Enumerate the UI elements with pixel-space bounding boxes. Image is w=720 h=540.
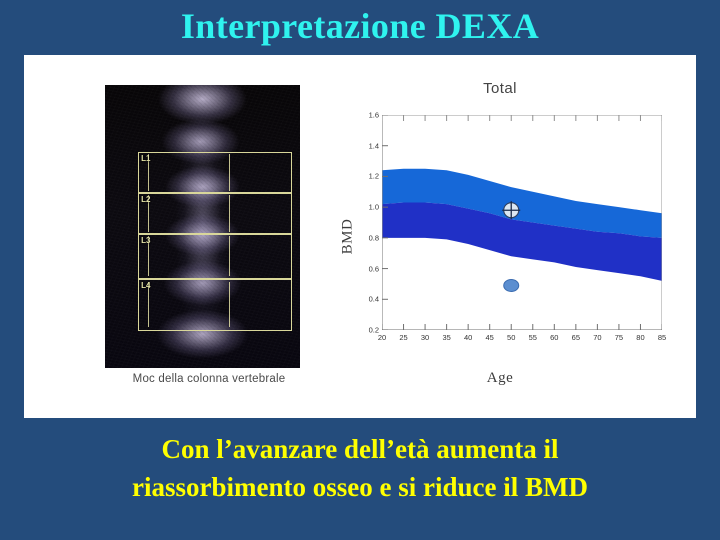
dexa-scan-figure: L1 L2 L3 L4 Moc della colonna vertebrale (105, 85, 300, 390)
chart-x-tick-label: 85 (658, 333, 666, 342)
roi-box-l2: L2 (138, 193, 292, 234)
chart-plot-area: 0.20.40.60.81.01.21.41.62025303540455055… (382, 115, 662, 330)
chart-x-tick-label: 65 (572, 333, 580, 342)
chart-x-tick-label: 40 (464, 333, 472, 342)
chart-y-tick-label: 1.6 (369, 111, 379, 120)
chart-y-tick-label: 1.2 (369, 172, 379, 181)
chart-y-tick-label: 1.4 (369, 141, 379, 150)
roi-box-l4: L4 (138, 279, 292, 331)
chart-y-tick-label: 0.8 (369, 233, 379, 242)
chart-x-tick-label: 25 (399, 333, 407, 342)
chart-x-tick-label: 55 (529, 333, 537, 342)
chart-x-tick-label: 70 (593, 333, 601, 342)
chart-y-tick-label: 1.0 (369, 203, 379, 212)
chart-x-tick-label: 50 (507, 333, 515, 342)
roi-label-l4: L4 (141, 281, 150, 290)
chart-y-axis-label: BMD (340, 197, 357, 277)
slide: Interpretazione DEXA L1 L2 L3 (0, 0, 720, 540)
roi-label-l1: L1 (141, 154, 150, 163)
content-panel: L1 L2 L3 L4 Moc della colonna vertebrale… (24, 55, 696, 418)
slide-caption: Con l’avanzare dell’età aumenta il riass… (20, 430, 700, 506)
chart-plot-svg (382, 115, 662, 330)
chart-x-tick-label: 30 (421, 333, 429, 342)
bmd-age-chart: Total BMD Age 0.20.40.60.81.01.21.41.620… (324, 80, 676, 395)
caption-line-2: riassorbimento osseo e si riduce il BMD (20, 468, 700, 506)
chart-x-tick-label: 45 (486, 333, 494, 342)
chart-patient-measurement-marker[interactable] (504, 279, 519, 291)
roi-label-l3: L3 (141, 236, 150, 245)
page-title: Interpretazione DEXA (0, 4, 720, 48)
chart-x-tick-label: 75 (615, 333, 623, 342)
chart-y-tick-label: 0.6 (369, 264, 379, 273)
roi-label-l2: L2 (141, 195, 150, 204)
chart-title: Total (324, 80, 676, 97)
chart-x-tick-label: 35 (442, 333, 450, 342)
chart-x-axis-label: Age (324, 370, 676, 387)
dexa-scan-image: L1 L2 L3 L4 (105, 85, 300, 368)
caption-line-1: Con l’avanzare dell’età aumenta il (20, 430, 700, 468)
roi-box-l3: L3 (138, 234, 292, 279)
chart-y-tick-label: 0.4 (369, 295, 379, 304)
chart-x-tick-label: 60 (550, 333, 558, 342)
dexa-scan-caption: Moc della colonna vertebrale (104, 373, 314, 385)
roi-box-l1: L1 (138, 152, 292, 193)
chart-x-tick-label: 20 (378, 333, 386, 342)
chart-x-tick-label: 80 (636, 333, 644, 342)
